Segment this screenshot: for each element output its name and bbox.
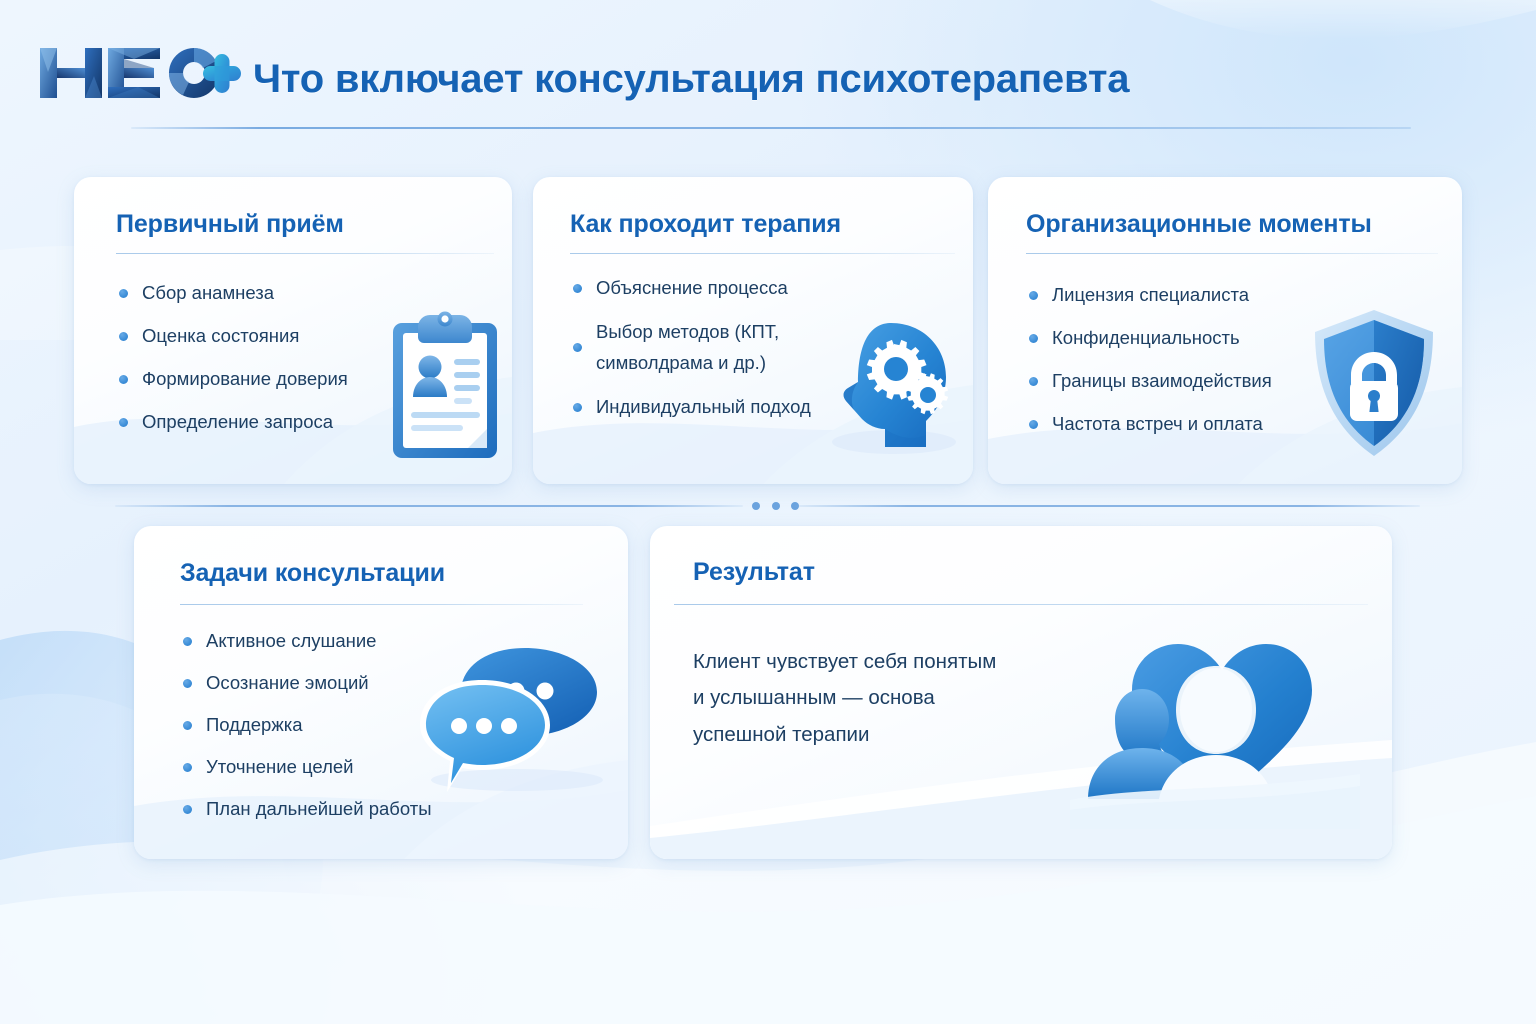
card-title: Первичный приём — [116, 210, 344, 239]
divider-line-left — [115, 505, 743, 507]
list-item: Формирование доверия — [116, 357, 348, 400]
divider-dot — [752, 502, 760, 510]
list-item: Конфиденциальность — [1026, 316, 1272, 359]
card-bullet-list: Лицензия специалиста Конфиденциальность … — [1026, 273, 1272, 445]
card-bullet-list: Сбор анамнеза Оценка состояния Формирова… — [116, 271, 348, 443]
card-organizational[interactable]: Организационные моменты Лицензия специал… — [988, 177, 1462, 484]
card-primary-visit[interactable]: Первичный приём Сбор анамнеза Оценка сос… — [74, 177, 512, 484]
card-how-therapy-works[interactable]: Как проходит терапия Объяснение процесса… — [533, 177, 973, 484]
result-line: и услышанным — основа — [693, 680, 1113, 716]
clipboard-person-icon — [386, 305, 504, 463]
brand-logo — [38, 42, 243, 104]
list-item: Лицензия специалиста — [1026, 273, 1272, 316]
section-divider — [0, 497, 1536, 515]
list-item: Индивидуальный подход — [570, 391, 870, 422]
list-item: План дальнейшей работы — [180, 788, 432, 830]
card-result[interactable]: Результат Клиент чувствует себя понятым … — [650, 526, 1392, 859]
card-title-underline — [674, 604, 1368, 605]
list-item: Частота встреч и оплата — [1026, 402, 1272, 445]
card-consultation-goals[interactable]: Задачи консультации Активное слушание Ос… — [134, 526, 628, 859]
list-item: Оценка состояния — [116, 314, 348, 357]
speech-bubbles-icon — [417, 634, 612, 794]
page-title: Что включает консультация психотерапевта — [253, 57, 1129, 102]
card-title-underline — [180, 604, 583, 605]
result-body: Клиент чувствует себя понятым и услышанн… — [693, 644, 1113, 753]
page-header: Что включает консультация психотерапевта — [0, 0, 1536, 150]
heart-people-icon — [1070, 614, 1360, 829]
list-item: Определение запроса — [116, 400, 348, 443]
divider-line-right — [795, 505, 1420, 507]
list-item: Границы взаимодействия — [1026, 359, 1272, 402]
list-item: Выбор методов (КПТ, символдрама и др.) — [570, 316, 830, 378]
list-item: Активное слушание — [180, 620, 432, 662]
result-line: успешной терапии — [693, 717, 1113, 753]
shield-lock-icon — [1308, 307, 1440, 459]
list-item: Сбор анамнеза — [116, 271, 348, 314]
card-bullet-list: Активное слушание Осознание эмоций Подде… — [180, 620, 432, 830]
card-title: Как проходит терапия — [570, 210, 841, 239]
card-title-underline — [570, 253, 955, 254]
list-item: Объяснение процесса — [570, 272, 870, 303]
list-item: Уточнение целей — [180, 746, 432, 788]
list-item: Поддержка — [180, 704, 432, 746]
list-item: Осознание эмоций — [180, 662, 432, 704]
card-title: Организационные моменты — [1026, 210, 1372, 239]
result-line: Клиент чувствует себя понятым — [693, 644, 1113, 680]
card-title: Результат — [693, 558, 815, 587]
card-title: Задачи консультации — [180, 559, 445, 588]
divider-dot — [772, 502, 780, 510]
card-title-underline — [116, 253, 494, 254]
header-divider — [131, 127, 1411, 129]
card-title-underline — [1026, 253, 1438, 254]
card-bullet-list: Объяснение процесса Выбор методов (КПТ, … — [570, 272, 870, 422]
